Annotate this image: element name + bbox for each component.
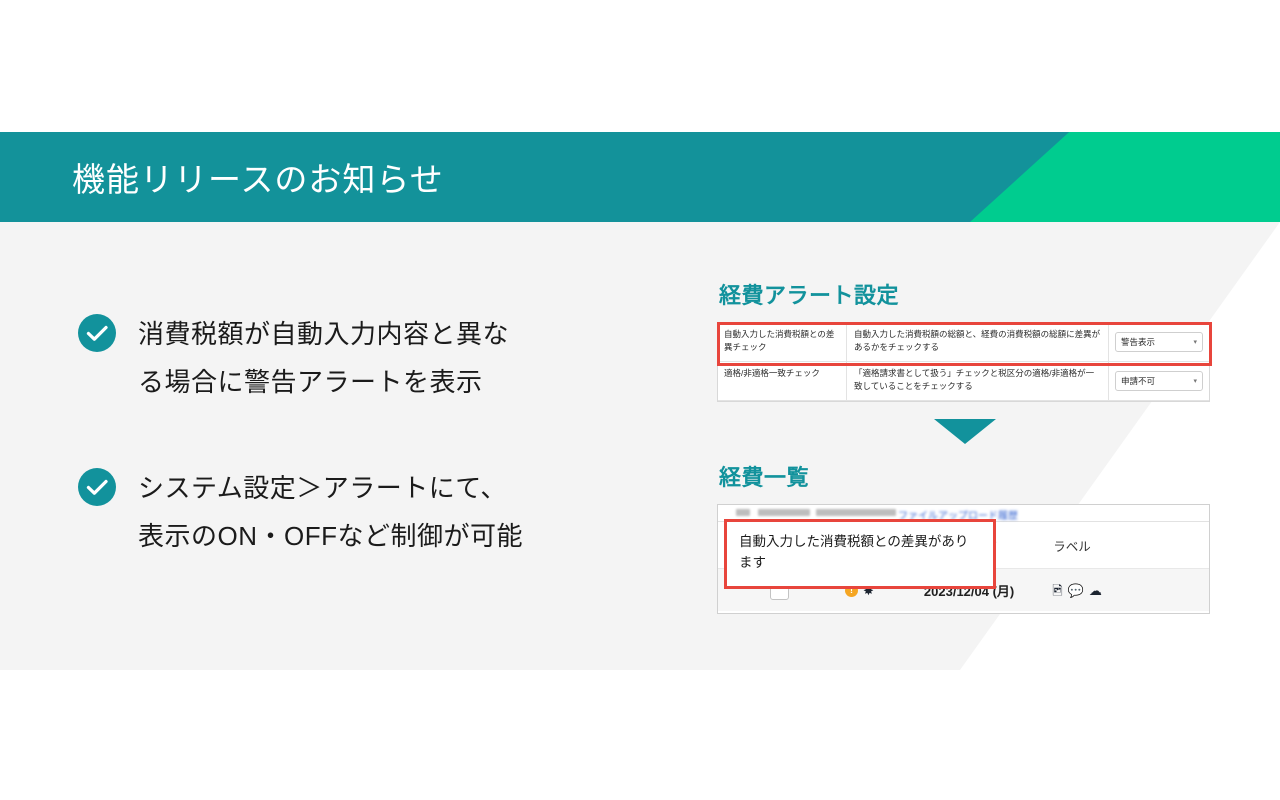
redacted-chip [758,509,810,516]
cloud-icon[interactable]: ☁ [1089,584,1102,597]
slide: 機能リリースのお知らせ 消費税額が自動入力内容と異な る場合に警告アラートを表示 [0,0,1280,800]
setting-description: 「適格請求書として扱う」チェックと税区分の適格/非適格が一致していることをチェッ… [847,362,1109,400]
feature-bullet-list: 消費税額が自動入力内容と異な る場合に警告アラートを表示 システム設定＞アラート… [78,310,658,560]
alert-level-select-value: 警告表示 [1121,336,1155,348]
page-title: 機能リリースのお知らせ [72,153,444,201]
bullet-line: る場合に警告アラートを表示 [138,358,509,406]
chevron-down-icon: ▾ [1193,339,1197,346]
alert-settings-table: 自動入力した消費税額との差異チェック 自動入力した消費税額の総額と、経費の消費税… [717,322,1210,402]
bullet-line: 表示のON・OFFなど制御が可能 [138,512,523,560]
alert-level-select[interactable]: 申請不可 ▾ [1115,371,1203,391]
setting-name: 適格/非適格一致チェック [718,362,847,400]
list-section-heading: 経費一覧 [719,460,1213,492]
list-item: 消費税額が自動入力内容と異な る場合に警告アラートを表示 [78,310,658,406]
table-row: 自動入力した消費税額との差異チェック 自動入力した消費税額の総額と、経費の消費税… [718,323,1209,362]
bullet-text: システム設定＞アラートにて、 表示のON・OFFなど制御が可能 [138,464,523,560]
bullet-text: 消費税額が自動入力内容と異な る場合に警告アラートを表示 [138,310,509,406]
chevron-down-icon: ▾ [1193,378,1197,385]
comment-icon[interactable]: 💬 [1068,584,1084,597]
setting-select-cell: 申請不可 ▾ [1109,362,1209,400]
column-header-label: ラベル [1053,536,1091,555]
redacted-chip [816,509,896,516]
header-accent-shape [970,132,1280,222]
alert-level-select-value: 申請不可 [1121,375,1155,387]
setting-description: 自動入力した消費税額の総額と、経費の消費税額の総額に差異があるかをチェックする [847,323,1109,361]
settings-section-heading: 経費アラート設定 [719,278,1213,310]
image-icon[interactable]: 🖻 [1052,584,1062,597]
bullet-line: 消費税額が自動入力内容と異な [138,310,509,358]
header-band: 機能リリースのお知らせ [0,132,1280,222]
bullet-line: システム設定＞アラートにて、 [138,464,523,512]
check-circle-icon [78,468,116,506]
redacted-chip [736,509,750,516]
setting-name: 自動入力した消費税額との差異チェック [718,323,847,361]
check-circle-icon [78,314,116,352]
body-panel: 消費税額が自動入力内容と異な る場合に警告アラートを表示 システム設定＞アラート… [0,222,1280,670]
list-item: システム設定＞アラートにて、 表示のON・OFFなど制御が可能 [78,464,658,560]
table-row: 適格/非適格一致チェック 「適格請求書として扱う」チェックと税区分の適格/非適格… [718,362,1209,401]
expense-list-screenshot: ファイルアップロード履歴 ⇵ ラベル ! ✸ 2023/12/04 (月) 🖻 … [717,504,1210,614]
label-icons: 🖻 💬 ☁ [1052,584,1102,597]
tooltip-tail [848,577,862,584]
setting-select-cell: 警告表示 ▾ [1109,323,1209,361]
alert-level-select[interactable]: 警告表示 ▾ [1115,332,1203,352]
screenshot-column: 経費アラート設定 自動入力した消費税額との差異チェック 自動入力した消費税額の総… [717,278,1213,614]
arrow-down-icon [934,419,996,444]
